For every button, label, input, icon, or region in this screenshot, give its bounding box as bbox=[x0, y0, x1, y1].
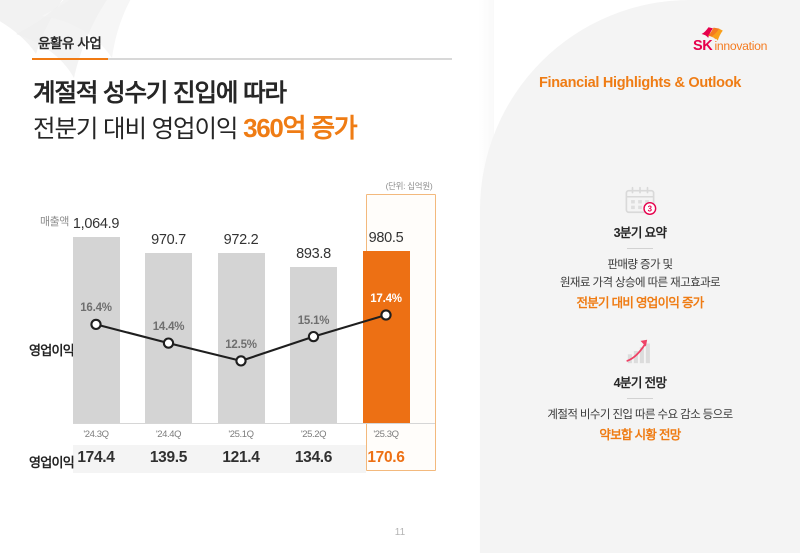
chart-unit-note: (단위: 십억원) bbox=[364, 180, 454, 192]
block-divider bbox=[627, 248, 653, 249]
quarter-tick-label: '25.1Q bbox=[201, 429, 281, 440]
eyebrow-divider bbox=[32, 58, 452, 60]
headline-line-1: 계절적 성수기 진입에 따라 bbox=[33, 78, 463, 110]
panel-title: Financial Highlights & Outlook bbox=[480, 75, 800, 91]
headline-line-2-plain: 전분기 대비 영업이익 bbox=[33, 116, 243, 143]
quarter-tick-label: '24.3Q bbox=[56, 429, 136, 440]
block-emphasis: 전분기 대비 영업이익 증가 bbox=[480, 294, 800, 314]
page-number: 11 bbox=[0, 527, 800, 538]
revenue-bar bbox=[145, 253, 192, 423]
calendar-icon: 3 bbox=[620, 186, 660, 216]
margin-value-label: 17.4% bbox=[356, 293, 416, 305]
growth-chart-icon bbox=[620, 336, 660, 366]
block-line: 계절적 비수기 진입 따른 수요 감소 등으로 bbox=[480, 407, 800, 425]
sk-innovation-logo: SK innovation bbox=[691, 26, 771, 56]
operating-profit-value: 134.6 bbox=[274, 449, 354, 467]
section-eyebrow-title: 윤활유 사업 bbox=[38, 32, 101, 52]
page-title: 계절적 성수기 진입에 따라 전분기 대비 영업이익 360억 증가 bbox=[33, 78, 463, 146]
highlight-block-q4-outlook: 4분기 전망 계절적 비수기 진입 따른 수요 감소 등으로 약보합 시황 전망 bbox=[480, 336, 800, 445]
block-divider bbox=[627, 398, 653, 399]
margin-value-label: 16.4% bbox=[66, 302, 126, 314]
quarter-tick-label: '24.4Q bbox=[129, 429, 209, 440]
revenue-bar-highlighted bbox=[363, 251, 410, 423]
revenue-bar bbox=[290, 267, 337, 423]
block-heading: 3분기 요약 bbox=[480, 222, 800, 241]
revenue-value-label: 970.7 bbox=[129, 232, 209, 248]
quarterly-performance-chart: (단위: 십억원) 매출액 영업이익률 1,064.9970.7972.2893… bbox=[0, 180, 470, 500]
margin-value-label: 15.1% bbox=[284, 315, 344, 327]
logo-innovation-text: innovation bbox=[715, 39, 768, 53]
block-line: 원재료 가격 상승에 따른 재고효과로 bbox=[480, 275, 800, 293]
block-line: 판매량 증가 및 bbox=[480, 257, 800, 275]
operating-profit-value: 174.4 bbox=[56, 449, 136, 467]
revenue-value-label: 893.8 bbox=[274, 246, 354, 262]
revenue-value-label: 972.2 bbox=[201, 232, 281, 248]
block-heading: 4분기 전망 bbox=[480, 372, 800, 391]
chart-baseline-axis bbox=[73, 423, 435, 424]
quarter-tick-label: '25.2Q bbox=[274, 429, 354, 440]
quarter-tick-label: '25.3Q bbox=[346, 429, 426, 440]
revenue-value-label: 980.5 bbox=[346, 230, 426, 246]
headline-emphasis: 360억 증가 bbox=[243, 113, 356, 143]
operating-profit-value: 121.4 bbox=[201, 449, 281, 467]
headline-line-2: 전분기 대비 영업이익 360억 증가 bbox=[33, 112, 463, 146]
svg-text:3: 3 bbox=[648, 204, 653, 213]
highlight-block-q3-summary: 3 3분기 요약 판매량 증가 및 원재료 가격 상승에 따른 재고효과로 전분… bbox=[480, 186, 800, 313]
revenue-bar bbox=[73, 237, 120, 423]
operating-profit-value-highlighted: 170.6 bbox=[346, 449, 426, 467]
logo-sk-text: SK bbox=[693, 38, 713, 54]
block-emphasis: 약보합 시황 전망 bbox=[480, 426, 800, 446]
revenue-value-label: 1,064.9 bbox=[56, 216, 136, 232]
margin-value-label: 12.5% bbox=[211, 339, 271, 351]
operating-profit-value: 139.5 bbox=[129, 449, 209, 467]
margin-value-label: 14.4% bbox=[139, 321, 199, 333]
